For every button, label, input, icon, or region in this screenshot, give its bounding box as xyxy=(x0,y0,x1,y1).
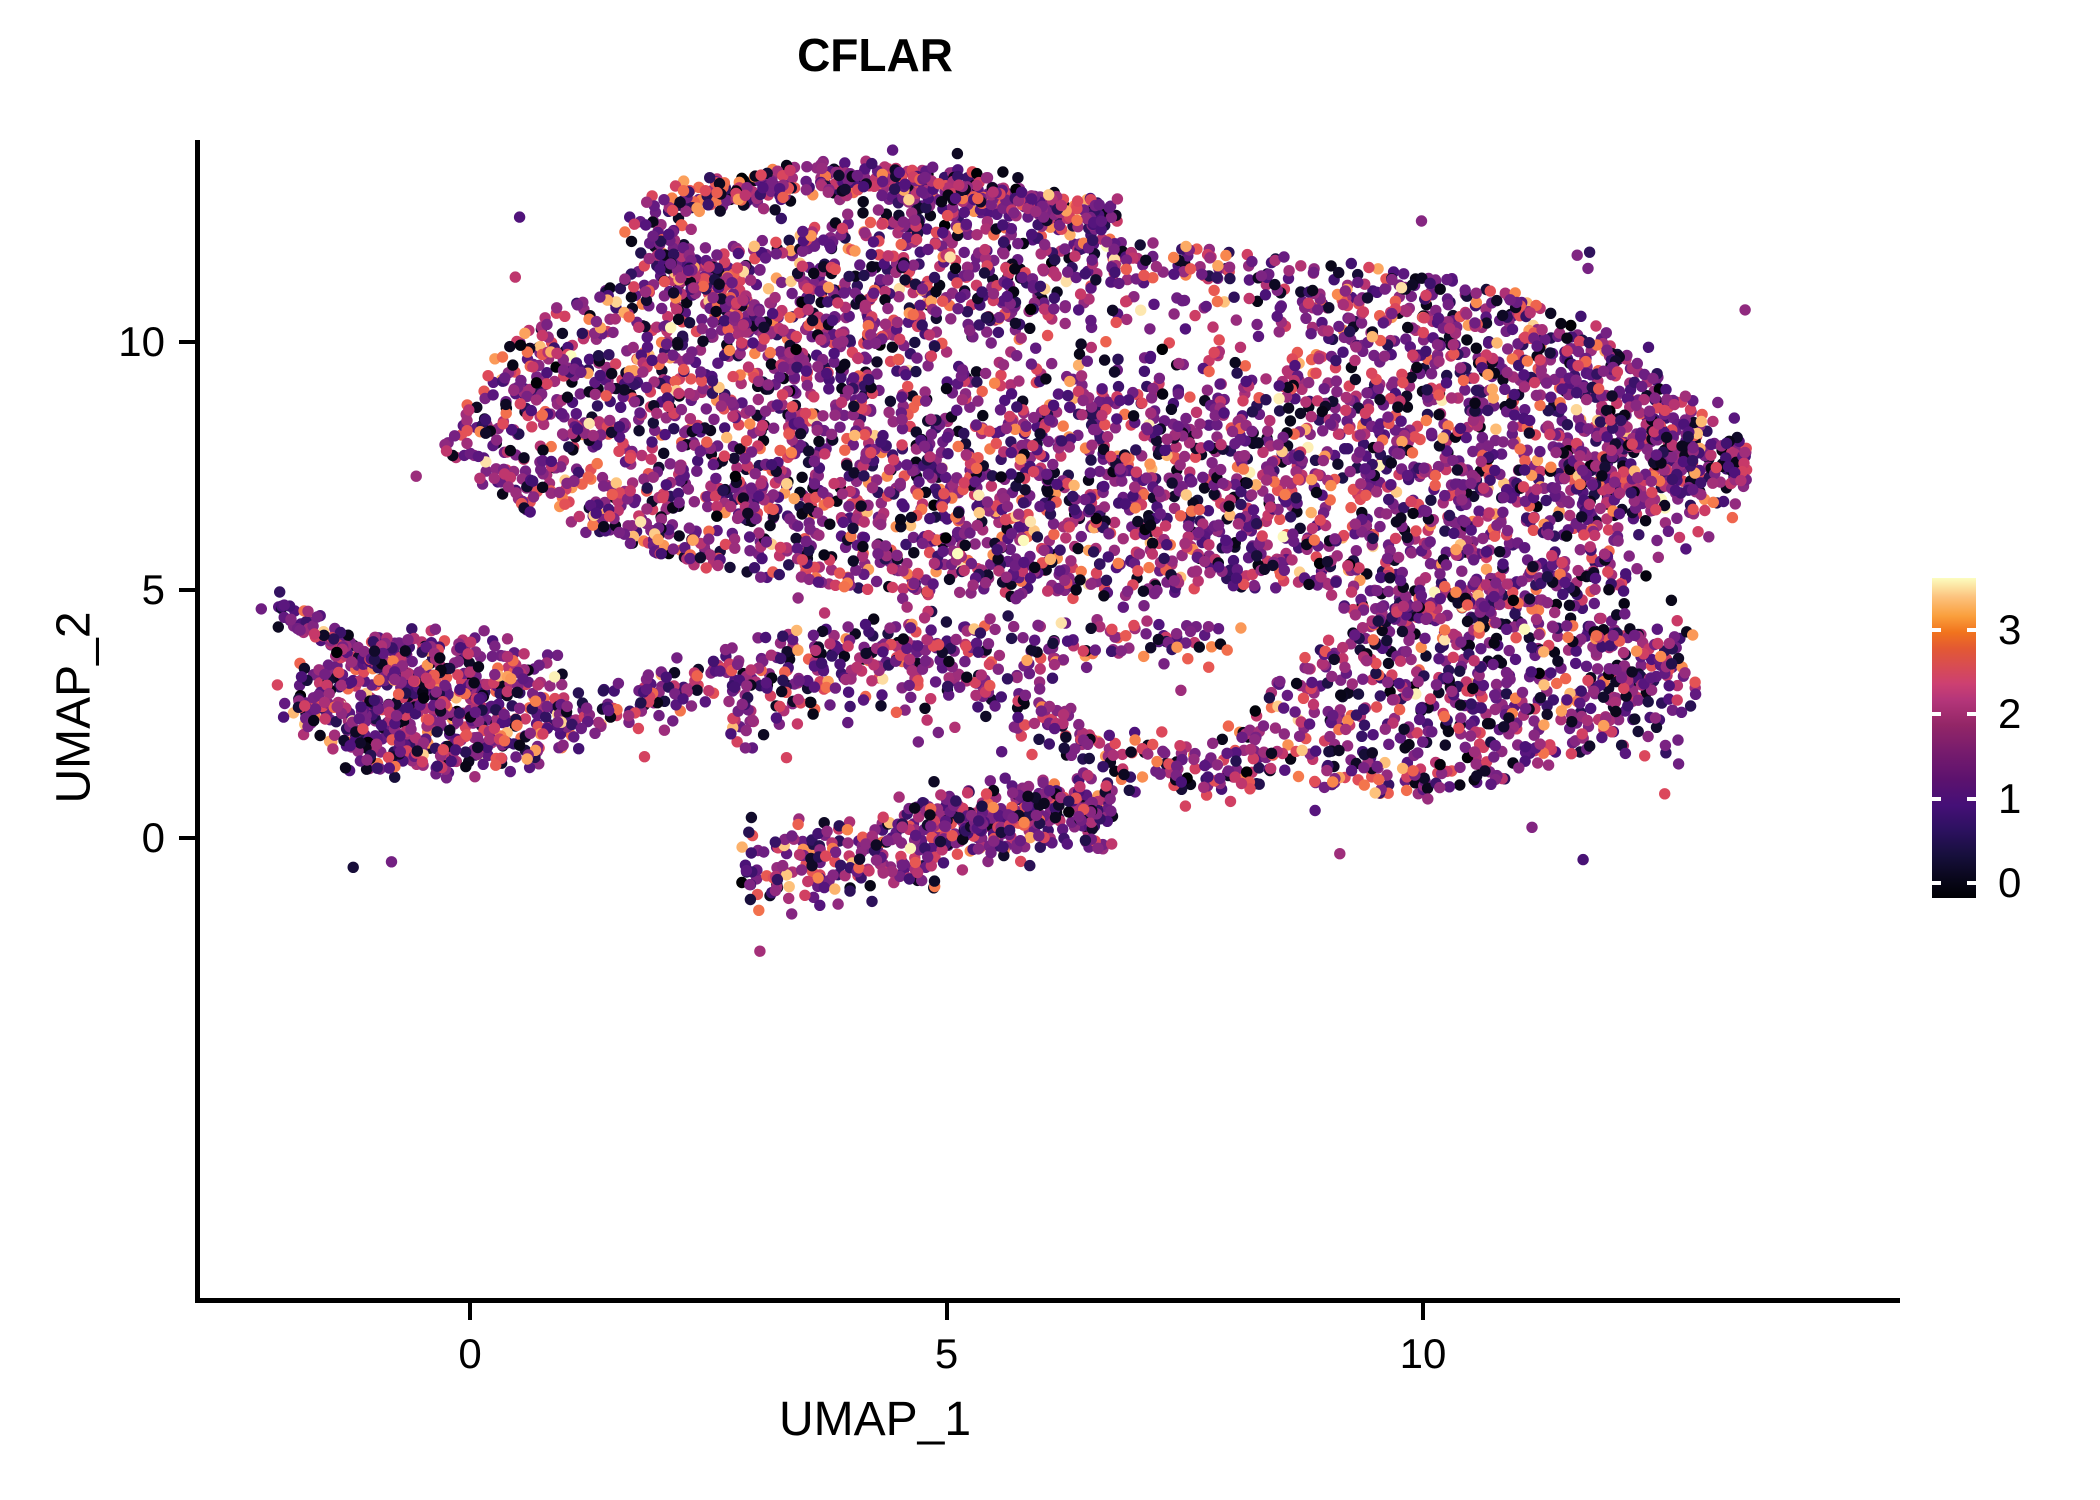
colorbar-tick-mark xyxy=(1967,797,1976,801)
y-tick-mark xyxy=(179,588,195,592)
colorbar-tick-mark xyxy=(1932,797,1941,801)
colorbar-tick-label: 1 xyxy=(1998,775,2021,823)
colorbar-tick-mark xyxy=(1967,881,1976,885)
x-tick-mark xyxy=(1421,1303,1425,1320)
x-tick-mark xyxy=(945,1303,949,1320)
x-axis-label: UMAP_1 xyxy=(195,1392,1555,1447)
colorbar-tick-mark xyxy=(1932,881,1941,885)
colorbar-legend xyxy=(1932,578,1976,898)
y-tick-mark xyxy=(179,340,195,344)
plot-title: CFLAR xyxy=(195,28,1555,82)
colorbar-tick-label: 3 xyxy=(1998,606,2021,654)
scatter-points xyxy=(195,140,1895,1298)
colorbar-tick-mark xyxy=(1967,628,1976,632)
x-tick-mark xyxy=(468,1303,472,1320)
colorbar-gradient xyxy=(1932,578,1976,898)
y-axis-label: UMAP_2 xyxy=(47,358,102,1058)
x-tick-label: 5 xyxy=(935,1330,958,1378)
colorbar-tick-mark xyxy=(1967,712,1976,716)
colorbar-tick-mark xyxy=(1932,628,1941,632)
y-axis-line xyxy=(195,140,200,1300)
colorbar-tick-label: 0 xyxy=(1998,859,2021,907)
y-tick-mark xyxy=(179,836,195,840)
x-tick-label: 10 xyxy=(1400,1330,1447,1378)
scatter-panel xyxy=(195,140,1895,1298)
colorbar-tick-label: 2 xyxy=(1998,690,2021,738)
plot-canvas: CFLAR 0510 0510 UMAP_1 UMAP_2 0123 xyxy=(0,0,2100,1500)
colorbar-tick-mark xyxy=(1932,712,1941,716)
plot-title-text: CFLAR xyxy=(797,29,953,81)
x-tick-label: 0 xyxy=(458,1330,481,1378)
x-axis-line xyxy=(195,1298,1900,1303)
